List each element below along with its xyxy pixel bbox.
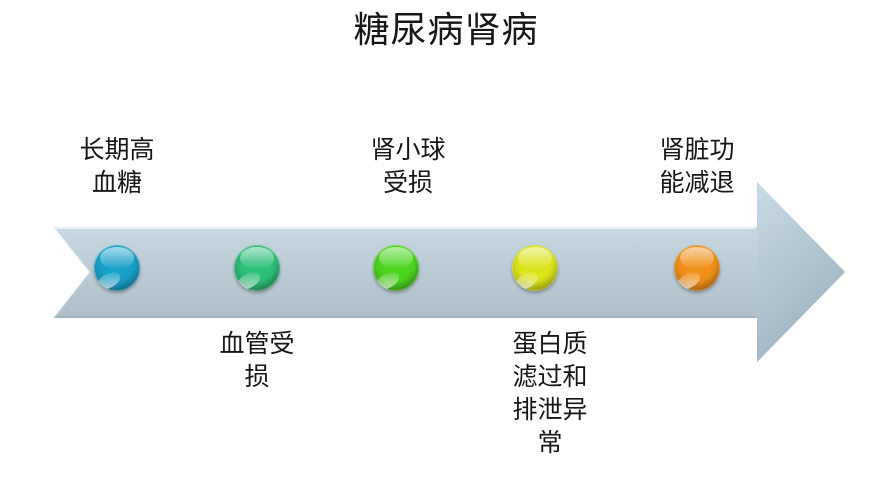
stage-label-glomerular-damage: 肾小球 受损 bbox=[323, 133, 493, 199]
dot-highlight-top bbox=[518, 247, 551, 269]
stage-label-protein-filtration: 蛋白质 滤过和 排泄异 常 bbox=[465, 327, 635, 459]
progression-arrow bbox=[0, 0, 892, 500]
stage-label-hyperglycemia: 长期高 血糖 bbox=[32, 133, 202, 199]
dot-highlight-top bbox=[240, 247, 273, 269]
diagram-canvas: 糖尿病肾病 bbox=[0, 0, 892, 500]
stage-dot-hyperglycemia[interactable] bbox=[94, 245, 140, 291]
stage-label-renal-decline: 肾脏功 能减退 bbox=[612, 133, 782, 199]
dot-highlight-top bbox=[100, 247, 133, 269]
dot-highlight-top bbox=[680, 247, 713, 269]
dot-highlight-top bbox=[379, 247, 412, 269]
stage-dot-vascular-damage[interactable] bbox=[234, 245, 280, 291]
stage-dot-renal-decline[interactable] bbox=[674, 245, 720, 291]
stage-dot-protein-filtration[interactable] bbox=[512, 245, 558, 291]
stage-dot-glomerular-damage[interactable] bbox=[373, 245, 419, 291]
stage-label-vascular-damage: 血管受 损 bbox=[172, 327, 342, 393]
